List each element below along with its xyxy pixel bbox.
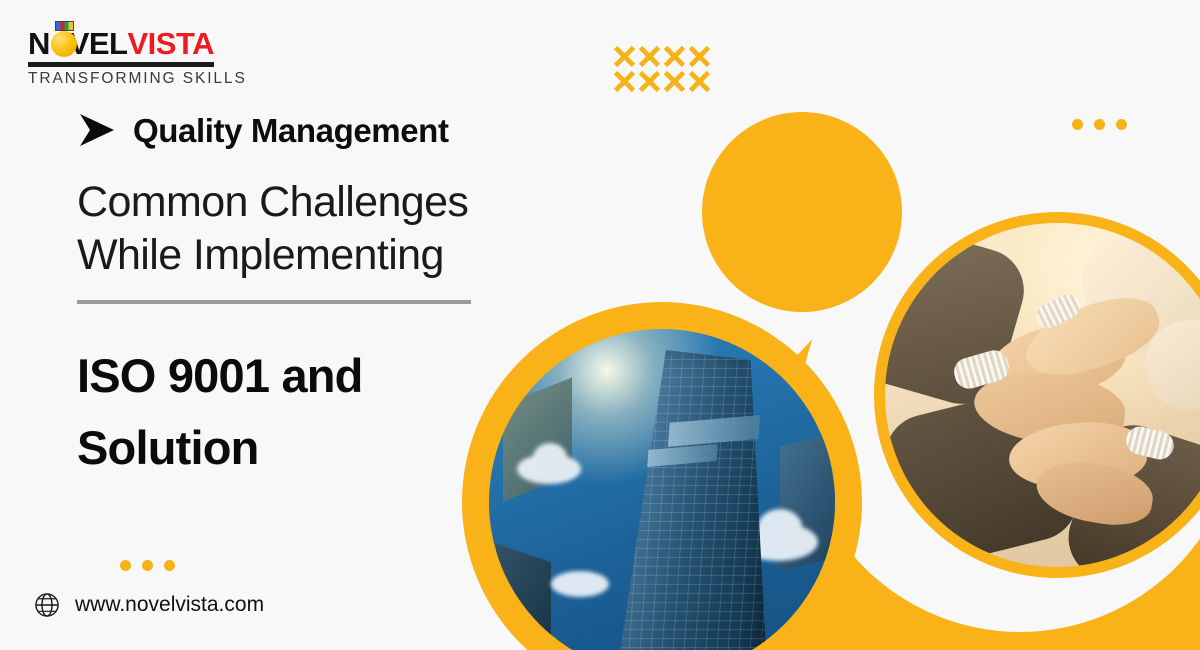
- cross-icon: [612, 44, 637, 69]
- banner: N VEL VISTA TRANSFORMING SKILLS: [0, 0, 1200, 650]
- medal-disc: [51, 31, 77, 57]
- logo-underline: [28, 62, 214, 67]
- subtitle-line-2: While Implementing: [77, 229, 597, 282]
- globe-icon: [34, 592, 60, 618]
- medal-ribbon: [55, 21, 74, 31]
- cross-icon: [612, 69, 637, 94]
- logo-wordmark: N VEL VISTA: [28, 28, 214, 59]
- category-kicker: Quality Management: [77, 112, 597, 148]
- subtitle: Common Challenges While Implementing: [77, 176, 597, 283]
- cross-icon: [687, 69, 712, 94]
- divider-rule: [77, 300, 471, 304]
- subtitle-line-1: Common Challenges: [77, 176, 597, 229]
- team-hands-photo-ring: [874, 212, 1200, 578]
- logo-letters-vista: VISTA: [128, 28, 215, 59]
- headline: ISO 9001 and Solution: [77, 340, 597, 486]
- website-url-text: www.novelvista.com: [75, 593, 264, 617]
- dot: [1094, 119, 1105, 130]
- team-hands-photo: [885, 223, 1200, 567]
- headline-block: Quality Management Common Challenges Whi…: [77, 112, 597, 485]
- dots-decoration-footer: [120, 560, 175, 571]
- novelvista-logo[interactable]: N VEL VISTA TRANSFORMING SKILLS: [28, 28, 214, 88]
- logo-tagline: TRANSFORMING SKILLS: [28, 70, 214, 88]
- logo-letters-vel: VEL: [69, 28, 128, 59]
- dots-decoration-top-right: [1072, 119, 1127, 130]
- cross-icon: [637, 44, 662, 69]
- dot: [120, 560, 131, 571]
- headline-line-2: Solution: [77, 412, 597, 485]
- dot: [1072, 119, 1083, 130]
- yellow-circle-top: [702, 112, 902, 312]
- dot: [164, 560, 175, 571]
- medal-icon: [51, 30, 68, 57]
- cross-grid-decoration: [612, 44, 712, 94]
- dot: [1116, 119, 1127, 130]
- cross-icon: [662, 69, 687, 94]
- arrow-right-icon: [77, 112, 117, 148]
- logo-letter-n: N: [28, 28, 50, 59]
- headline-line-1: ISO 9001 and: [77, 340, 597, 413]
- category-label: Quality Management: [133, 114, 449, 147]
- cross-icon: [637, 69, 662, 94]
- cross-icon: [662, 44, 687, 69]
- website-link[interactable]: www.novelvista.com: [34, 592, 264, 618]
- dot: [142, 560, 153, 571]
- warm-light-overlay: [885, 223, 1200, 567]
- cross-icon: [687, 44, 712, 69]
